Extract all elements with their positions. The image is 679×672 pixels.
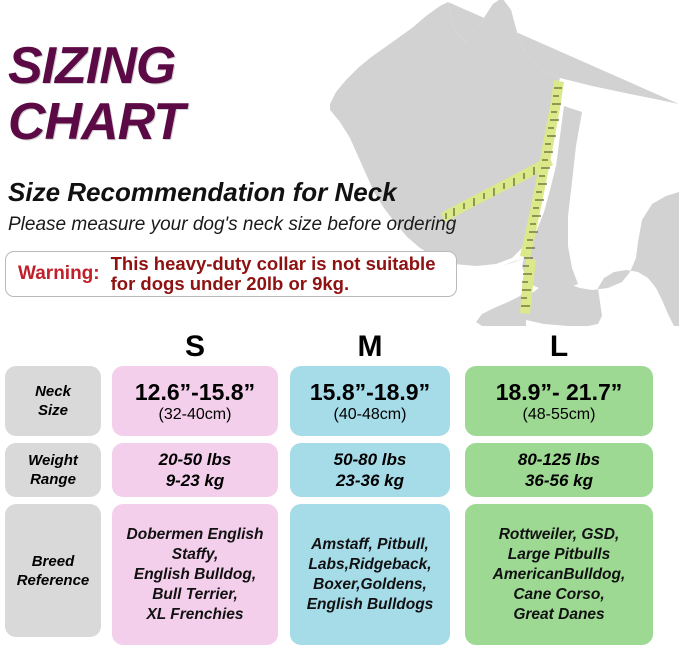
table-row: Weight Range 20-50 lbs 9-23 kg 50-80 lbs… [0, 443, 679, 497]
cell-weight-range-s-text: 20-50 lbs 9-23 kg [159, 449, 232, 491]
cell-breed-reference-l: Rottweiler, GSD, Large Pitbulls American… [465, 504, 653, 645]
cell-breed-reference-m: Amstaff, Pitbull, Labs,Ridgeback, Boxer,… [290, 504, 450, 645]
row-label-weight-range: Weight Range [5, 443, 101, 497]
subtitle: Size Recommendation for Neck [8, 177, 397, 207]
cell-weight-range-m-text: 50-80 lbs 23-36 kg [334, 449, 407, 491]
cell-neck-size-l-secondary: (48-55cm) [523, 405, 596, 424]
cell-breed-reference-m-text: Amstaff, Pitbull, Labs,Ridgeback, Boxer,… [301, 535, 440, 615]
cell-neck-size-m-secondary: (40-48cm) [334, 405, 407, 424]
cell-breed-reference-l-text: Rottweiler, GSD, Large Pitbulls American… [487, 525, 632, 625]
cell-weight-range-l: 80-125 lbs 36-56 kg [465, 443, 653, 497]
title-line-2: CHART [8, 94, 184, 150]
warning-box: Warning: This heavy-duty collar is not s… [5, 251, 457, 297]
cell-neck-size-s-secondary: (32-40cm) [159, 405, 232, 424]
cell-neck-size-m-primary: 15.8”-18.9” [310, 379, 430, 405]
row-label-breed-reference: Breed Reference [5, 504, 101, 637]
cell-neck-size-l-primary: 18.9”- 21.7” [496, 379, 623, 405]
title-line-1: SIZING [8, 38, 184, 94]
instruction-text: Please measure your dog's neck size befo… [8, 213, 456, 237]
warning-message: This heavy-duty collar is not suitable f… [100, 254, 436, 294]
cell-weight-range-s: 20-50 lbs 9-23 kg [112, 443, 278, 497]
cell-breed-reference-s-text: Dobermen English Staffy, English Bulldog… [121, 525, 270, 625]
cell-neck-size-l: 18.9”- 21.7” (48-55cm) [465, 366, 653, 436]
table-row: Breed Reference Dobermen English Staffy,… [0, 504, 679, 645]
row-label-neck-size: Neck Size [5, 366, 101, 436]
cell-neck-size-m: 15.8”-18.9” (40-48cm) [290, 366, 450, 436]
cell-weight-range-l-text: 80-125 lbs 36-56 kg [518, 449, 600, 491]
cell-neck-size-s-primary: 12.6”-15.8” [135, 379, 255, 405]
table-row: Neck Size 12.6”-15.8” (32-40cm) 15.8”-18… [0, 366, 679, 436]
cell-neck-size-s: 12.6”-15.8” (32-40cm) [112, 366, 278, 436]
cell-weight-range-m: 50-80 lbs 23-36 kg [290, 443, 450, 497]
page-title: SIZING CHART [8, 38, 184, 150]
size-table: S M L Neck Size 12.6”-15.8” (32-40cm) 15… [0, 330, 679, 652]
column-header-m: M [290, 330, 450, 364]
table-header-row: S M L [0, 330, 679, 366]
column-header-s: S [112, 330, 278, 364]
column-header-l: L [465, 330, 653, 364]
warning-label: Warning: [6, 263, 100, 285]
cell-breed-reference-s: Dobermen English Staffy, English Bulldog… [112, 504, 278, 645]
